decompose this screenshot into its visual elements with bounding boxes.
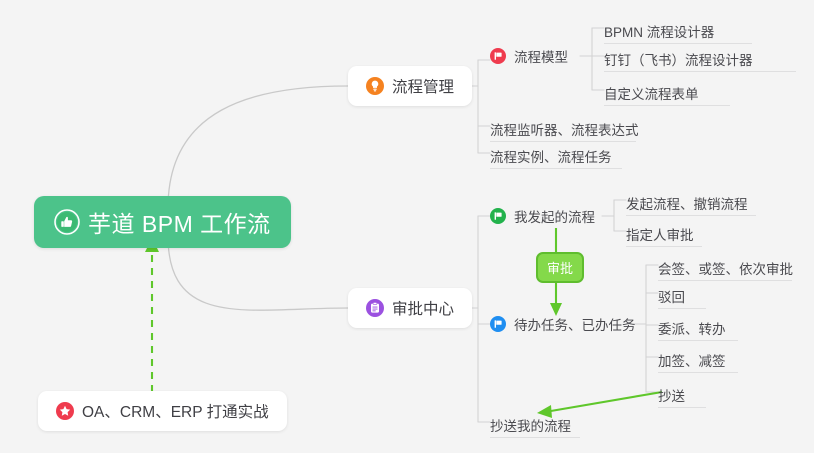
leaf-instance-task[interactable]: 流程实例、流程任务: [490, 139, 622, 169]
leaf-cc-label: 抄送: [658, 390, 685, 404]
root-label: 芋道 BPM 工作流: [88, 205, 271, 239]
integration-callout-label: OA、CRM、ERP 打通实战: [82, 400, 269, 422]
leaf-underline: [658, 372, 738, 373]
leaf-underline: [626, 246, 702, 247]
approval-tag-label: 审批: [547, 258, 573, 277]
leaf-start-cancel-process[interactable]: 发起流程、撤销流程: [626, 186, 756, 216]
node-my-started-process[interactable]: 我发起的流程: [490, 201, 595, 231]
leaf-underline: [490, 437, 580, 438]
branch-process-management-label: 流程管理: [392, 75, 454, 97]
leaf-cc[interactable]: 抄送: [658, 378, 706, 408]
leaf-cc-to-me-process-label: 抄送我的流程: [490, 420, 571, 434]
mindmap-canvas: 芋道 BPM 工作流 流程管理 流程模型 BPMN 流程设计器 钉钉: [0, 0, 814, 453]
flag-icon: [490, 316, 506, 332]
leaf-dingtalk-feishu-designer-label: 钉钉（飞书）流程设计器: [604, 54, 753, 68]
leaf-add-remove-sign[interactable]: 加签、减签: [658, 343, 738, 373]
leaf-start-cancel-process-label: 发起流程、撤销流程: [626, 198, 748, 212]
flag-icon: [490, 208, 506, 224]
branch-process-management[interactable]: 流程管理: [348, 66, 472, 106]
leaf-underline: [658, 340, 738, 341]
leaf-custom-process-form-label: 自定义流程表单: [604, 88, 699, 102]
thumbs-up-icon: [54, 209, 80, 235]
approval-tag[interactable]: 审批: [536, 252, 584, 283]
leaf-underline: [658, 407, 706, 408]
star-icon: [56, 402, 74, 420]
leaf-dingtalk-feishu-designer[interactable]: 钉钉（飞书）流程设计器: [604, 42, 796, 72]
leaf-cc-to-me-process[interactable]: 抄送我的流程: [490, 408, 580, 438]
node-todo-done-task[interactable]: 待办任务、已办任务: [490, 309, 636, 339]
node-my-started-process-label: 我发起的流程: [514, 206, 595, 226]
leaf-countersign[interactable]: 会签、或签、依次审批: [658, 251, 792, 281]
leaf-underline: [626, 215, 756, 216]
wire-root-to-process-management: [168, 86, 348, 208]
leaf-assignee-approval-label: 指定人审批: [626, 229, 694, 243]
leaf-reject[interactable]: 驳回: [658, 279, 706, 309]
integration-callout[interactable]: OA、CRM、ERP 打通实战: [38, 391, 287, 431]
node-process-model[interactable]: 流程模型: [490, 41, 568, 71]
leaf-delegate-transfer-label: 委派、转办: [658, 323, 726, 337]
leaf-reject-label: 驳回: [658, 291, 685, 305]
leaf-underline: [490, 168, 622, 169]
node-process-model-label: 流程模型: [514, 46, 568, 66]
branch-approval-center-label: 审批中心: [392, 297, 454, 319]
leaf-delegate-transfer[interactable]: 委派、转办: [658, 311, 738, 341]
leaf-underline: [658, 308, 706, 309]
leaf-countersign-label: 会签、或签、依次审批: [658, 263, 793, 277]
root-node[interactable]: 芋道 BPM 工作流: [34, 196, 291, 248]
leaf-add-remove-sign-label: 加签、减签: [658, 355, 726, 369]
leaf-bpmn-designer-label: BPMN 流程设计器: [604, 26, 714, 40]
lightbulb-icon: [366, 77, 384, 95]
branch-approval-center[interactable]: 审批中心: [348, 288, 472, 328]
leaf-custom-process-form[interactable]: 自定义流程表单: [604, 76, 730, 106]
leaf-underline: [604, 71, 796, 72]
flag-icon: [490, 48, 506, 64]
leaf-bpmn-designer[interactable]: BPMN 流程设计器: [604, 14, 752, 44]
clipboard-icon: [366, 299, 384, 317]
leaf-assignee-approval[interactable]: 指定人审批: [626, 217, 702, 247]
leaf-listener-expression-label: 流程监听器、流程表达式: [490, 124, 639, 138]
leaf-listener-expression[interactable]: 流程监听器、流程表达式: [490, 112, 636, 142]
node-todo-done-task-label: 待办任务、已办任务: [514, 314, 636, 334]
leaf-underline: [604, 105, 730, 106]
leaf-instance-task-label: 流程实例、流程任务: [490, 151, 612, 165]
